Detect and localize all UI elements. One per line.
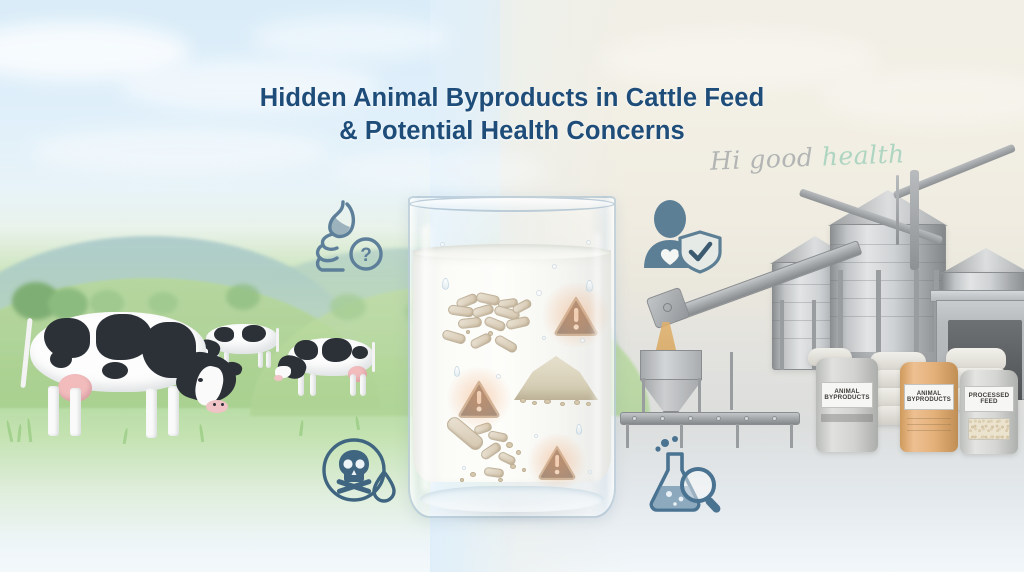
belt-roller — [772, 416, 777, 421]
condensation-bubble — [580, 338, 585, 343]
sack-label-line2: BYPRODUCTS — [824, 395, 869, 402]
glass-rim — [409, 196, 615, 212]
feed-sack-label: PROCESSED FEED — [964, 386, 1014, 412]
watermark-accent: health — [821, 139, 905, 171]
cow-mid — [282, 330, 390, 402]
belt-support — [626, 424, 629, 448]
glass-vessel — [408, 196, 616, 518]
condensation-bubble — [496, 374, 501, 379]
feed-sack-label: ANIMAL BYPRODUCTS — [821, 382, 873, 408]
person-shield-icon — [636, 196, 724, 278]
cloud — [600, 30, 880, 90]
cloud — [120, 60, 380, 112]
condensation-bubble — [534, 434, 538, 438]
condensation-bubble — [462, 466, 466, 470]
condensation-bubble — [542, 336, 546, 340]
silo-vertical-pipe — [910, 170, 919, 270]
conveyor-truss — [730, 352, 733, 410]
feed-sack-animal-byproducts-tan: ANIMAL BYPRODUCTS — [900, 362, 958, 452]
tree — [330, 294, 366, 320]
cloud — [250, 16, 450, 60]
cloud — [330, 150, 550, 190]
sack-label-line2: BYPRODUCTS — [907, 397, 951, 403]
glass-of-milk — [398, 196, 626, 526]
sack-feed-window — [968, 418, 1010, 440]
hopper-leg — [698, 378, 701, 416]
silo-ladder — [896, 175, 899, 245]
belt-roller — [632, 416, 637, 421]
cloud — [30, 128, 330, 174]
cow-main — [10, 300, 250, 448]
sack-line — [907, 430, 951, 431]
belt-roller — [660, 416, 665, 421]
belt-support — [736, 424, 739, 448]
belt-roller — [716, 416, 721, 421]
watermark-primary: Hi good — [710, 143, 814, 176]
sack-line — [907, 418, 951, 419]
svg-text:?: ? — [360, 245, 372, 266]
condensation-bubble — [440, 242, 445, 247]
stomach-question-icon: ? — [303, 192, 389, 278]
condensation-droplet — [442, 278, 449, 290]
condensation-droplet — [454, 366, 460, 377]
flask-magnifier-icon — [648, 436, 732, 516]
belt-roller — [688, 416, 693, 421]
warning-triangle — [458, 378, 500, 418]
sack-line — [907, 424, 951, 425]
bone-meal-mound — [514, 356, 598, 406]
feed-sack-processed-feed: PROCESSED FEED — [960, 370, 1018, 454]
sack-stripe — [821, 414, 873, 422]
feed-hopper — [640, 350, 702, 380]
condensation-bubble — [552, 264, 557, 269]
glass-base — [420, 486, 604, 512]
condensation-droplet — [576, 424, 582, 435]
glass-highlight — [591, 232, 600, 482]
glass-highlight — [422, 224, 435, 492]
condensation-bubble — [536, 290, 542, 296]
belt-roller — [744, 416, 749, 421]
sack-label-line2: FEED — [969, 399, 1010, 406]
hopper-leg — [642, 378, 645, 416]
feed-pellet-cluster — [442, 294, 538, 356]
pellet-debris — [444, 420, 540, 494]
conveyor-head-bolt — [663, 303, 672, 312]
feed-sack-label: ANIMAL BYPRODUCTS — [904, 384, 954, 410]
feed-sack-animal-byproducts-gray: ANIMAL BYPRODUCTS — [816, 358, 878, 452]
belt-support — [790, 424, 793, 448]
warning-triangle — [538, 444, 576, 480]
illustration-canvas: ANIMAL BYPRODUCTS ANIMAL BYPRODUCTS PROC… — [0, 0, 1024, 572]
skull-droplet-icon — [318, 432, 404, 512]
